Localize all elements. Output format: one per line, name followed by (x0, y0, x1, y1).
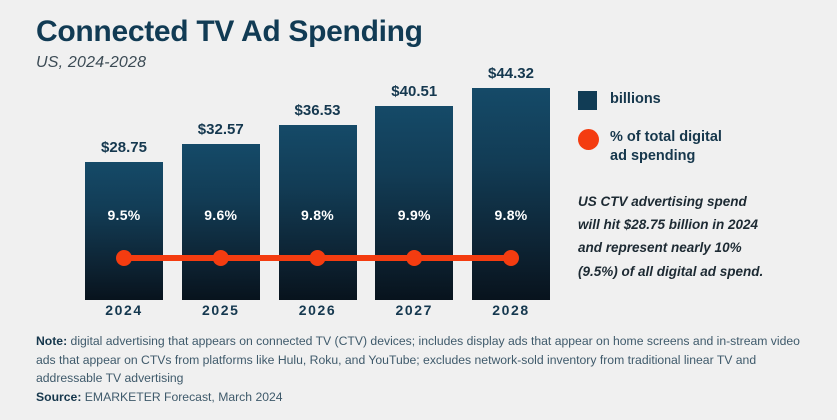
plot-area: $28.759.5%$32.579.6%$36.539.8%$40.519.9%… (85, 70, 550, 300)
bar-column[interactable]: $28.759.5% (85, 70, 163, 300)
bar-rect[interactable] (375, 106, 453, 300)
footnote-note: Note: digital advertising that appears o… (36, 332, 816, 388)
legend-square-icon (578, 91, 597, 110)
bar-column[interactable]: $36.539.8% (279, 70, 357, 300)
footnote-note-label: Note: (36, 334, 67, 348)
x-axis-tick-label: 2025 (182, 302, 260, 318)
percent-value-label: 9.9% (375, 207, 453, 223)
bar-series: $28.759.5%$32.579.6%$36.539.8%$40.519.9%… (85, 70, 550, 300)
bar-rect[interactable] (85, 162, 163, 300)
percent-value-label: 9.8% (279, 207, 357, 223)
bar-value-label: $28.75 (85, 139, 163, 156)
x-axis-tick-label: 2028 (472, 302, 550, 318)
bar-column[interactable]: $32.579.6% (182, 70, 260, 300)
callout-line: US CTV advertising spend (578, 190, 828, 213)
x-axis-tick-label: 2024 (85, 302, 163, 318)
footnote-note-text: digital advertising that appears on conn… (36, 334, 800, 385)
percent-value-label: 9.5% (85, 207, 163, 223)
bar-column[interactable]: $44.329.8% (472, 70, 550, 300)
bar-value-label: $36.53 (279, 102, 357, 119)
legend-item-label: % of total digitalad spending (610, 128, 722, 165)
chart-header: Connected TV Ad Spending US, 2024-2028 (36, 16, 636, 72)
bar-column[interactable]: $40.519.9% (375, 70, 453, 300)
chart-title: Connected TV Ad Spending (36, 16, 636, 48)
x-axis-labels: 20242025202620272028 (85, 302, 550, 318)
callout-text: US CTV advertising spendwill hit $28.75 … (578, 190, 828, 283)
legend-circle-icon (578, 129, 599, 150)
bar-value-label: $32.57 (182, 121, 260, 138)
bar-value-label: $44.32 (472, 65, 550, 82)
bar-value-label: $40.51 (375, 83, 453, 100)
footnote-source: Source: EMARKETER Forecast, March 2024 (36, 388, 816, 407)
callout-line: (9.5%) of all digital ad spend. (578, 260, 828, 283)
chart-legend: billions% of total digitalad spending (578, 90, 828, 183)
percent-value-label: 9.8% (472, 207, 550, 223)
x-axis-tick-label: 2027 (375, 302, 453, 318)
callout-line: will hit $28.75 billion in 2024 (578, 213, 828, 236)
footnote: Note: digital advertising that appears o… (36, 332, 816, 406)
x-axis-tick-label: 2026 (279, 302, 357, 318)
footnote-source-label: Source: (36, 390, 81, 404)
footnote-source-text: EMARKETER Forecast, March 2024 (85, 390, 283, 404)
bar-rect[interactable] (472, 88, 550, 300)
chart-canvas: Connected TV Ad Spending US, 2024-2028 $… (0, 0, 837, 420)
legend-item[interactable]: billions (578, 90, 828, 110)
percent-value-label: 9.6% (182, 207, 260, 223)
callout-line: and represent nearly 10% (578, 236, 828, 259)
legend-item-label: billions (610, 90, 661, 109)
legend-item[interactable]: % of total digitalad spending (578, 128, 828, 165)
